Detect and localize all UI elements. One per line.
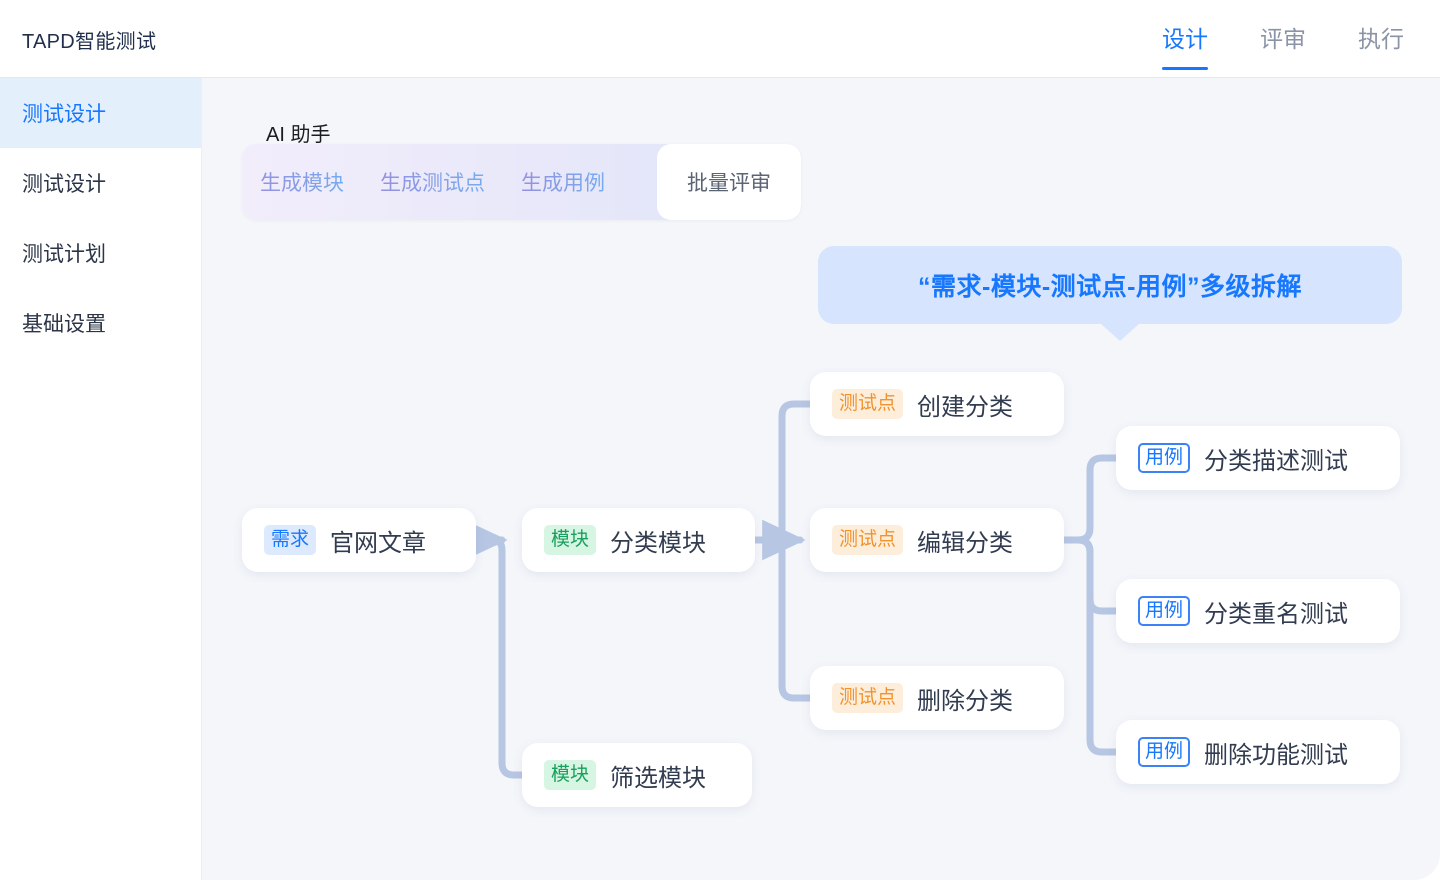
node-testpoint-create-text: 创建分类	[917, 387, 1013, 422]
badge-module: 模块	[544, 525, 596, 555]
node-case-category-description[interactable]: 用例 分类描述测试	[1116, 426, 1400, 490]
top-nav-tabs: 设计 评审 执行	[1162, 20, 1404, 70]
node-requirement-text: 官网文章	[330, 523, 426, 558]
node-testpoint-delete-text: 删除分类	[917, 681, 1013, 716]
node-testpoint-delete[interactable]: 测试点 删除分类	[810, 666, 1064, 730]
ai-action-generate-case[interactable]: 生成用例	[503, 144, 623, 220]
ai-action-generate-module[interactable]: 生成模块	[242, 144, 362, 220]
node-module-category-text: 分类模块	[610, 523, 706, 558]
sidebar-item-test-design[interactable]: 测试设计	[0, 148, 201, 218]
tab-execute[interactable]: 执行	[1358, 20, 1404, 70]
node-testpoint-create[interactable]: 测试点 创建分类	[810, 372, 1064, 436]
node-requirement[interactable]: 需求 官网文章	[242, 508, 476, 572]
node-case-delete-function[interactable]: 用例 删除功能测试	[1116, 720, 1400, 784]
ai-assistant-toolbar: 生成模块 生成测试点 生成用例 批量评审	[242, 144, 801, 220]
app-title: TAPD智能测试	[22, 25, 156, 54]
node-case-category-rename[interactable]: 用例 分类重名测试	[1116, 579, 1400, 643]
tab-review[interactable]: 评审	[1260, 20, 1306, 70]
node-module-filter[interactable]: 模块 筛选模块	[522, 743, 752, 807]
ai-assistant-label: AI 助手	[266, 118, 330, 147]
node-module-filter-text: 筛选模块	[610, 758, 706, 793]
node-case-delete-function-text: 删除功能测试	[1204, 735, 1348, 770]
callout-banner: “需求-模块-测试点-用例”多级拆解	[818, 246, 1402, 324]
ai-action-generate-test-point[interactable]: 生成测试点	[362, 144, 503, 220]
badge-test-point: 测试点	[832, 525, 903, 555]
badge-case: 用例	[1138, 596, 1190, 626]
callout-text: “需求-模块-测试点-用例”多级拆解	[918, 267, 1302, 303]
node-testpoint-edit-text: 编辑分类	[917, 523, 1013, 558]
sidebar-item-test-design-active[interactable]: 测试设计	[0, 78, 201, 148]
sidebar-item-basic-settings[interactable]: 基础设置	[0, 288, 201, 358]
sidebar-item-test-plan[interactable]: 测试计划	[0, 218, 201, 288]
ai-action-batch-review[interactable]: 批量评审	[657, 144, 801, 220]
tab-design[interactable]: 设计	[1162, 20, 1208, 70]
badge-test-point: 测试点	[832, 389, 903, 419]
app-header: TAPD智能测试 设计 评审 执行	[0, 0, 1440, 78]
badge-requirement: 需求	[264, 525, 316, 555]
sidebar: 测试设计 测试设计 测试计划 基础设置	[0, 78, 202, 880]
node-module-category[interactable]: 模块 分类模块	[522, 508, 755, 572]
badge-module: 模块	[544, 760, 596, 790]
badge-case: 用例	[1138, 443, 1190, 473]
main-canvas: AI 助手 生成模块 生成测试点 生成用例 批量评审 “需求-模块-测试点-用例…	[202, 78, 1440, 880]
node-case-category-description-text: 分类描述测试	[1204, 441, 1348, 476]
callout-tail-pointer	[1100, 323, 1140, 341]
app-window: TAPD智能测试 设计 评审 执行 测试设计 测试设计 测试计划 基础设置 AI…	[0, 0, 1440, 880]
badge-case: 用例	[1138, 737, 1190, 767]
node-case-category-rename-text: 分类重名测试	[1204, 594, 1348, 629]
node-testpoint-edit[interactable]: 测试点 编辑分类	[810, 508, 1064, 572]
badge-test-point: 测试点	[832, 683, 903, 713]
